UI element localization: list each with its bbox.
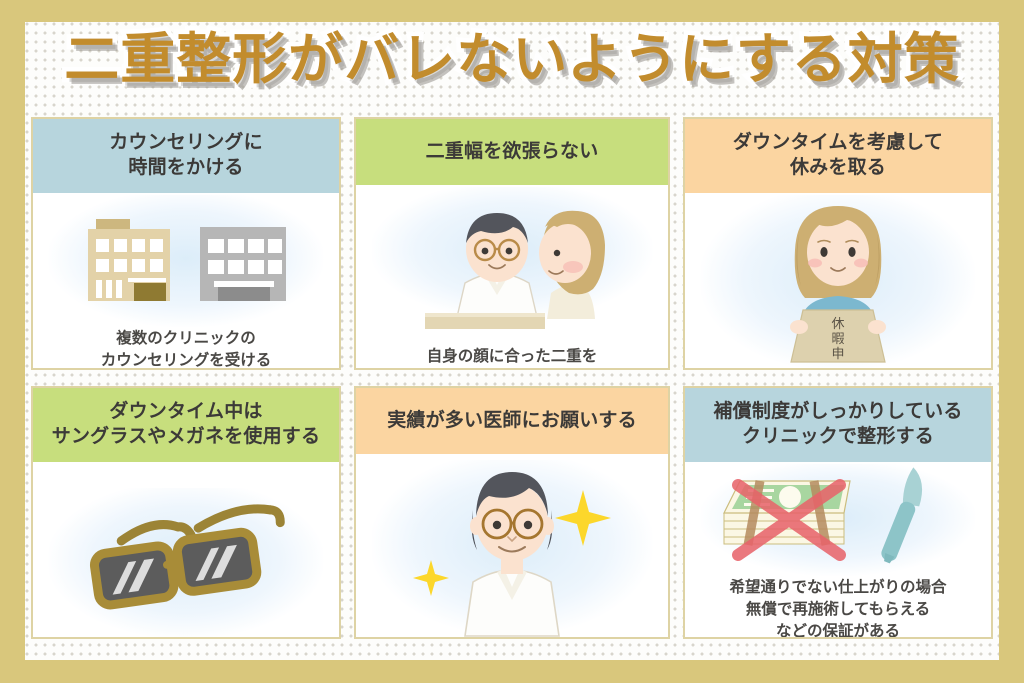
- card-body-downtime-leave: 休 暇 申: [685, 193, 991, 368]
- card-body-counseling-time: 複数のクリニックの カウンセリングを受ける: [33, 193, 339, 370]
- card-header-line: 休みを取る: [693, 155, 983, 180]
- card-header-experienced-doctor: 実績が多い医師にお願いする: [356, 388, 668, 454]
- card-caption-compensation-system: 希望通りでない仕上がりの場合 無償で再施術してもらえる などの保証がある: [723, 574, 952, 639]
- card-compensation-system: 補償制度がしっかりしている クリニックで整形する: [683, 386, 993, 639]
- card-header-line: ダウンタイムを考慮して: [693, 130, 983, 155]
- consultation-icon: [397, 197, 627, 337]
- card-body-experienced-doctor: [356, 454, 668, 639]
- card-grid: カウンセリングに 時間をかける: [31, 117, 993, 651]
- illustration-woman-holding-leave-form: 休 暇 申: [685, 193, 991, 368]
- leave-form-text-char: 暇: [831, 332, 844, 347]
- caption-line: 無償で再施術してもらえる: [729, 598, 946, 620]
- illustration-doctor-consulting-patient: [356, 185, 668, 349]
- caption-line: 複数のクリニックの: [101, 327, 272, 349]
- caption-line: 希望通りでない仕上がりの場合: [729, 576, 946, 598]
- card-experienced-doctor: 実績が多い医師にお願いする: [354, 386, 670, 639]
- smiling-doctor-icon: [387, 454, 637, 639]
- clinic-buildings-icon: [66, 199, 306, 319]
- card-header-line: ダウンタイム中は: [41, 399, 331, 424]
- card-header-line: 二重幅を欲張らない: [364, 139, 660, 164]
- illustration-sunglasses: [33, 462, 339, 637]
- card-fold-width: 二重幅を欲張らない: [354, 117, 670, 370]
- money-and-scalpel-icon: [698, 463, 978, 573]
- card-header-line: カウンセリングに: [41, 130, 331, 155]
- caption-line: 医師と相談する: [427, 367, 598, 370]
- illustration-two-clinic-buildings: [33, 193, 339, 325]
- card-header-line: クリニックで整形する: [693, 424, 983, 449]
- card-header-line: サングラスやメガネを使用する: [41, 424, 331, 449]
- illustration-doctor-with-sparkles: [356, 454, 668, 639]
- leave-form-text-char: 申: [831, 347, 844, 362]
- caption-line: 自身の顔に合った二重を: [427, 345, 598, 367]
- card-body-fold-width: 自身の顔に合った二重を 医師と相談する: [356, 185, 668, 370]
- card-counseling-time: カウンセリングに 時間をかける: [31, 117, 341, 370]
- card-header-fold-width: 二重幅を欲張らない: [356, 119, 668, 185]
- sunglasses-icon: [61, 474, 311, 624]
- card-header-line: 実績が多い医師にお願いする: [364, 408, 660, 433]
- caption-line: などの保証がある: [729, 620, 946, 639]
- card-sunglasses: ダウンタイム中は サングラスやメガネを使用する: [31, 386, 341, 639]
- card-header-sunglasses: ダウンタイム中は サングラスやメガネを使用する: [33, 388, 339, 462]
- card-body-compensation-system: 希望通りでない仕上がりの場合 無償で再施術してもらえる などの保証がある: [685, 462, 991, 639]
- illustration-money-crossed-out-and-scalpel: [685, 462, 991, 574]
- card-header-downtime-leave: ダウンタイムを考慮して 休みを取る: [685, 119, 991, 193]
- card-header-counseling-time: カウンセリングに 時間をかける: [33, 119, 339, 193]
- card-header-compensation-system: 補償制度がしっかりしている クリニックで整形する: [685, 388, 991, 462]
- card-header-line: 補償制度がしっかりしている: [693, 399, 983, 424]
- card-body-sunglasses: [33, 462, 339, 637]
- card-header-line: 時間をかける: [41, 155, 331, 180]
- leave-form-text-char: 休: [831, 317, 844, 332]
- caption-line: カウンセリングを受ける: [101, 349, 272, 370]
- card-caption-counseling-time: 複数のクリニックの カウンセリングを受ける: [95, 325, 278, 370]
- infographic-poster: 二重整形がバレないようにする対策 カウンセリングに 時間をかける: [0, 0, 1024, 683]
- woman-with-leave-form-icon: 休 暇 申: [743, 194, 933, 366]
- card-caption-fold-width: 自身の顔に合った二重を 医師と相談する: [421, 343, 604, 370]
- card-downtime-leave: ダウンタイムを考慮して 休みを取る: [683, 117, 993, 370]
